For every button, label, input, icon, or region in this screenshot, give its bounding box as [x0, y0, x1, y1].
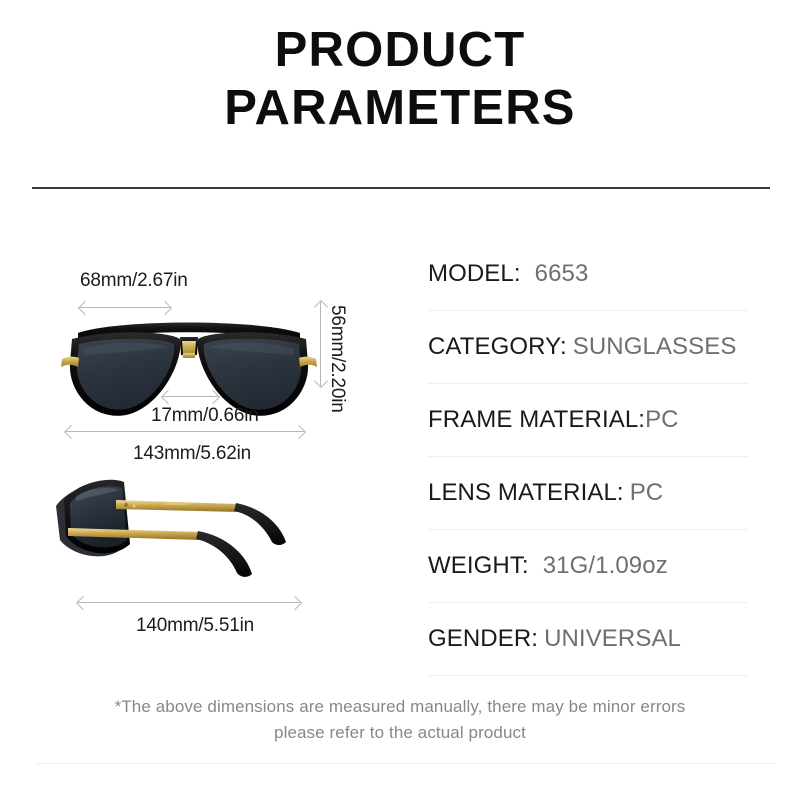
page-title: PRODUCT PARAMETERS: [0, 22, 800, 138]
spec-label-gender: GENDER:: [428, 625, 538, 653]
dimension-label-temple-length: 140mm/5.51in: [136, 615, 254, 637]
dimension-arrow-lens-height: [316, 302, 325, 386]
spec-row-model: MODEL: 6653: [428, 238, 748, 311]
spec-row-lens-material: LENS MATERIAL: PC: [428, 457, 748, 530]
dimension-label-lens-width: 68mm/2.67in: [80, 270, 188, 292]
spec-row-frame-material: FRAME MATERIAL: PC: [428, 384, 748, 457]
spec-label-frame-material: FRAME MATERIAL:: [428, 406, 645, 434]
dimension-arrow-temple-length: [78, 598, 300, 607]
spec-value-gender: UNIVERSAL: [544, 625, 681, 653]
dimension-label-lens-height: 56mm/2.20in: [326, 305, 348, 413]
disclaimer-line-2: please refer to the actual product: [0, 720, 800, 746]
page-title-line-1: PRODUCT: [0, 22, 800, 80]
dimension-arrow-total-width: [66, 427, 304, 436]
spec-value-frame-material: PC: [645, 406, 679, 434]
page-title-line-2: PARAMETERS: [0, 80, 800, 138]
title-divider: [32, 187, 770, 189]
product-dimensions-panel: 68mm/2.67in: [0, 215, 400, 655]
spec-label-model: MODEL:: [428, 260, 521, 288]
disclaimer-line-1: *The above dimensions are measured manua…: [0, 694, 800, 720]
spec-label-lens-material: LENS MATERIAL:: [428, 479, 624, 507]
disclaimer-note: *The above dimensions are measured manua…: [0, 694, 800, 747]
spec-value-model: 6653: [535, 260, 589, 288]
spec-value-lens-material: PC: [630, 479, 664, 507]
bottom-divider: [36, 763, 776, 764]
spec-row-weight: WEIGHT: 31G/1.09oz: [428, 530, 748, 603]
spec-row-category: CATEGORY: SUNGLASSES: [428, 311, 748, 384]
spec-value-weight: 31G/1.09oz: [543, 552, 668, 580]
sunglasses-side-view: [48, 470, 328, 590]
dimension-label-bridge: 17mm/0.66in: [151, 405, 259, 427]
dimension-arrow-bridge: [163, 392, 218, 401]
spec-value-category: SUNGLASSES: [573, 333, 737, 361]
spec-row-gender: GENDER: UNIVERSAL: [428, 603, 748, 676]
spec-label-weight: WEIGHT:: [428, 552, 529, 580]
spec-label-category: CATEGORY:: [428, 333, 567, 361]
product-spec-list: MODEL: 6653 CATEGORY: SUNGLASSES FRAME M…: [428, 238, 748, 676]
dimension-label-total-width: 143mm/5.62in: [133, 443, 251, 465]
